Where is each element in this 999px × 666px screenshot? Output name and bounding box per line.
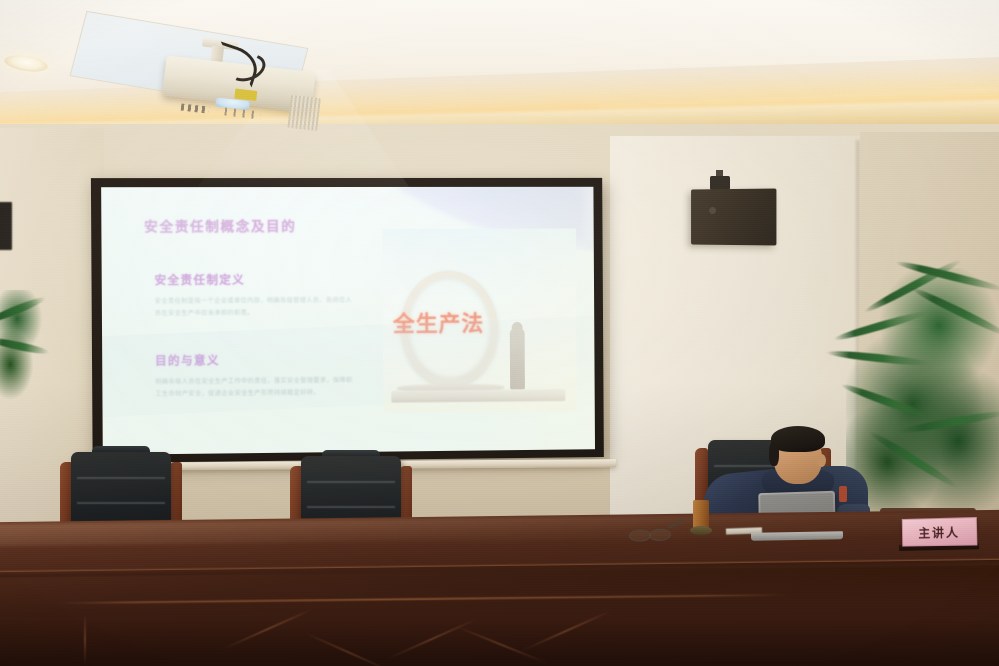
hair-side — [769, 442, 779, 466]
projector-vent-icon — [287, 95, 321, 131]
slide-section-heading: 安全责任制定义 — [154, 271, 355, 288]
laptop-keyboard-base[interactable] — [751, 531, 843, 541]
paper-stack — [726, 527, 762, 534]
slide-text-column: 安全责任制定义 安全责任制是指一个企业或单位内部，明确各级管理人员、各岗位人员在… — [154, 271, 356, 433]
safety-law-illustration: 全生产法 — [382, 228, 577, 412]
wall-mounted-speaker — [691, 189, 776, 246]
speaker-bracket — [710, 176, 730, 190]
slide-section-body: 明确各级人员在安全生产工作中的责任，落实安全管理要求，保障职工生命财产安全，促进… — [155, 375, 356, 401]
presentation-slide: 安全责任制概念及目的 安全责任制定义 安全责任制是指一个企业或单位内部，明确各级… — [101, 187, 595, 455]
ear — [817, 454, 826, 467]
cup-saucer — [690, 526, 712, 535]
glasses-lens-right — [649, 528, 671, 541]
slide-section: 安全责任制定义 安全责任制是指一个企业或单位内部，明确各级管理人员、各岗位人员在… — [154, 271, 355, 320]
eyeglasses — [629, 526, 683, 543]
projection-surface: 安全责任制概念及目的 安全责任制定义 安全责任制是指一个企业或单位内部，明确各级… — [101, 187, 595, 455]
slide-section-heading: 目的与意义 — [155, 351, 356, 369]
speaker-nameplate: 主讲人 — [902, 517, 978, 547]
conference-room-photo: 安全责任制概念及目的 安全责任制定义 安全责任制是指一个企业或单位内部，明确各级… — [0, 0, 999, 666]
safety-law-red-text: 全生产法 — [393, 306, 484, 338]
projector-indicator-icon — [181, 103, 210, 113]
nameplate-label: 主讲人 — [918, 523, 960, 541]
glasses-lens-left — [629, 529, 651, 542]
foreground-shadow — [0, 620, 999, 666]
potted-palm-plant-small — [0, 290, 52, 410]
slide-section-body: 安全责任制是指一个企业或单位内部，明确各级管理人员、各岗位人员在安全生产中应当承… — [155, 295, 356, 320]
projection-screen: 安全责任制概念及目的 安全责任制定义 安全责任制是指一个企业或单位内部，明确各级… — [91, 178, 604, 463]
slide-title: 安全责任制概念及目的 — [144, 215, 296, 235]
standing-figure-icon — [510, 328, 525, 390]
pedestal — [391, 389, 565, 403]
chair-backrest — [71, 452, 171, 528]
jacket-sleeve-patch — [839, 486, 847, 502]
speaker-driver-icon — [709, 207, 716, 214]
slide-section: 目的与意义 明确各级人员在安全生产工作中的责任，落实安全管理要求，保障职工生命财… — [155, 351, 356, 401]
hair — [771, 426, 825, 452]
